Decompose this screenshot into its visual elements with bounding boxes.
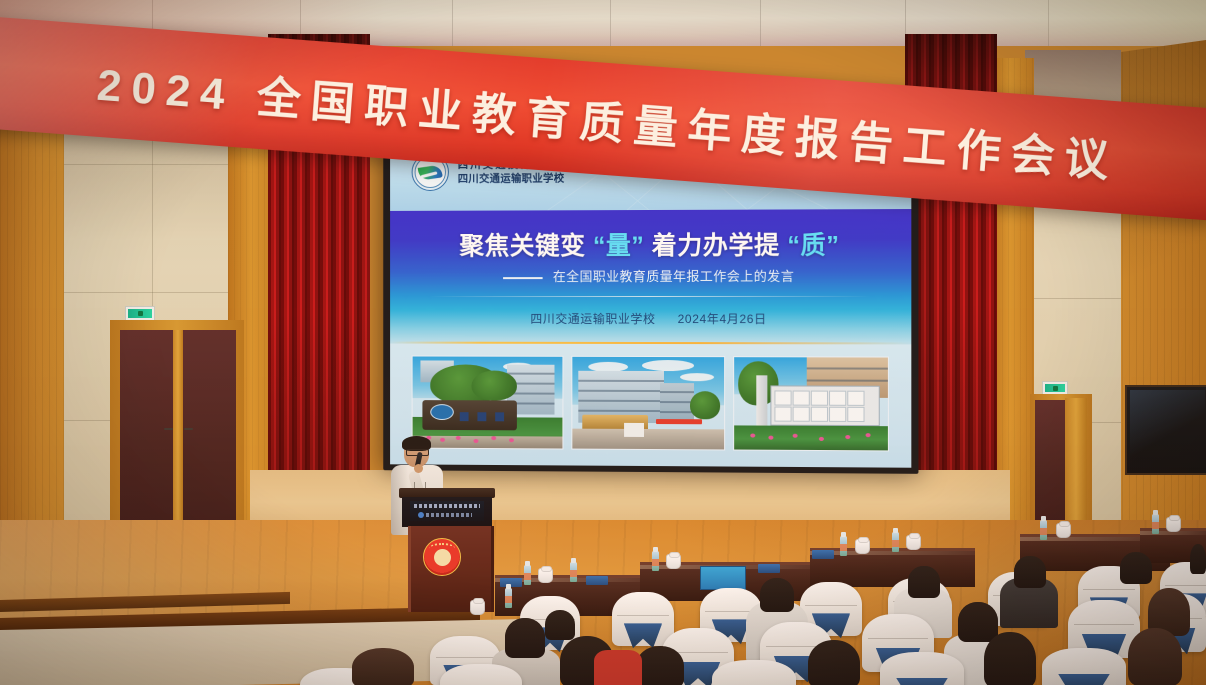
audience-person-body <box>594 650 642 685</box>
left-door-mullion <box>173 330 183 546</box>
slide-title-mid: 着力办学提 <box>652 232 780 260</box>
tea-cup <box>906 535 921 550</box>
exit-sign-icon-right <box>1042 381 1068 395</box>
name-plate <box>758 564 780 573</box>
slide-title-highlight-1: “量” <box>593 232 644 260</box>
audience-person <box>958 602 998 642</box>
chair <box>1042 648 1126 685</box>
name-plate <box>812 550 834 559</box>
tea-cup <box>538 568 553 583</box>
audience-person <box>545 610 575 640</box>
water-bottle <box>570 562 577 582</box>
water-bottle <box>840 536 847 556</box>
subtitle-dash <box>503 277 543 279</box>
audience-person <box>352 648 414 685</box>
left-door-handle-2[interactable] <box>184 428 193 430</box>
slide-meta: 四川交通运输职业学校2024年4月26日 <box>390 310 911 327</box>
right-door-edge <box>1065 398 1087 531</box>
water-bottle <box>652 551 659 571</box>
slide-title: 聚焦关键变 “量” 着力办学提 “质” <box>390 225 911 262</box>
audience-person <box>1190 544 1206 574</box>
name-plate <box>586 576 608 585</box>
slide-photo-3 <box>733 356 889 451</box>
logo-line-2: 四川交通运输职业学校 <box>458 171 565 186</box>
audience-person <box>808 640 860 685</box>
auditorium-scene: 四川交通技师学院 四川交通运输职业学校 聚焦关键变 “量” 着力办学提 “质” … <box>0 0 1206 685</box>
audience-person <box>908 566 940 598</box>
audience-person <box>1120 552 1152 584</box>
chair <box>612 592 674 646</box>
tea-cup <box>1166 517 1181 532</box>
slide-date: 2024年4月26日 <box>678 312 767 326</box>
audience-person <box>505 618 545 658</box>
slide-photo-1 <box>412 355 564 449</box>
slide-photo-2 <box>571 356 725 451</box>
audience-person <box>1128 628 1182 685</box>
water-bottle <box>1152 514 1159 534</box>
water-bottle <box>505 588 512 608</box>
left-door-left-leaf[interactable] <box>120 330 175 546</box>
chair <box>712 660 796 685</box>
water-bottle <box>524 565 531 585</box>
audience-person <box>636 646 684 685</box>
podium-display <box>410 501 484 521</box>
audience-person <box>984 632 1036 685</box>
chair <box>880 652 964 685</box>
slide-divider <box>429 296 870 297</box>
podium <box>399 488 495 616</box>
exit-sign-icon <box>125 306 155 321</box>
tea-cup <box>666 554 681 569</box>
slide-subtitle-row: 在全国职业教育质量年报工作会上的发言 <box>390 266 911 286</box>
water-bottle <box>892 532 899 552</box>
slide-photo-strip <box>412 355 889 449</box>
audience-person <box>760 578 794 612</box>
slide-title-prefix: 聚焦关键变 <box>460 232 586 260</box>
wall-monitor <box>1125 385 1206 475</box>
podium-seal-icon <box>423 538 461 576</box>
slide-org: 四川交通运输职业学校 <box>530 312 655 326</box>
audience-person <box>1014 556 1046 588</box>
tea-cup <box>855 539 870 554</box>
slide-title-highlight-2: “质” <box>787 231 839 259</box>
name-plate <box>500 578 522 587</box>
laptop[interactable] <box>700 566 746 590</box>
slide-subtitle: 在全国职业教育质量年报工作会上的发言 <box>553 269 794 284</box>
left-door-right-leaf[interactable] <box>182 330 236 546</box>
water-bottle <box>1040 520 1047 540</box>
left-door-handle[interactable] <box>164 428 173 430</box>
tea-cup <box>1056 523 1071 538</box>
right-door-leaf[interactable] <box>1035 400 1065 530</box>
tea-cup <box>470 600 485 615</box>
